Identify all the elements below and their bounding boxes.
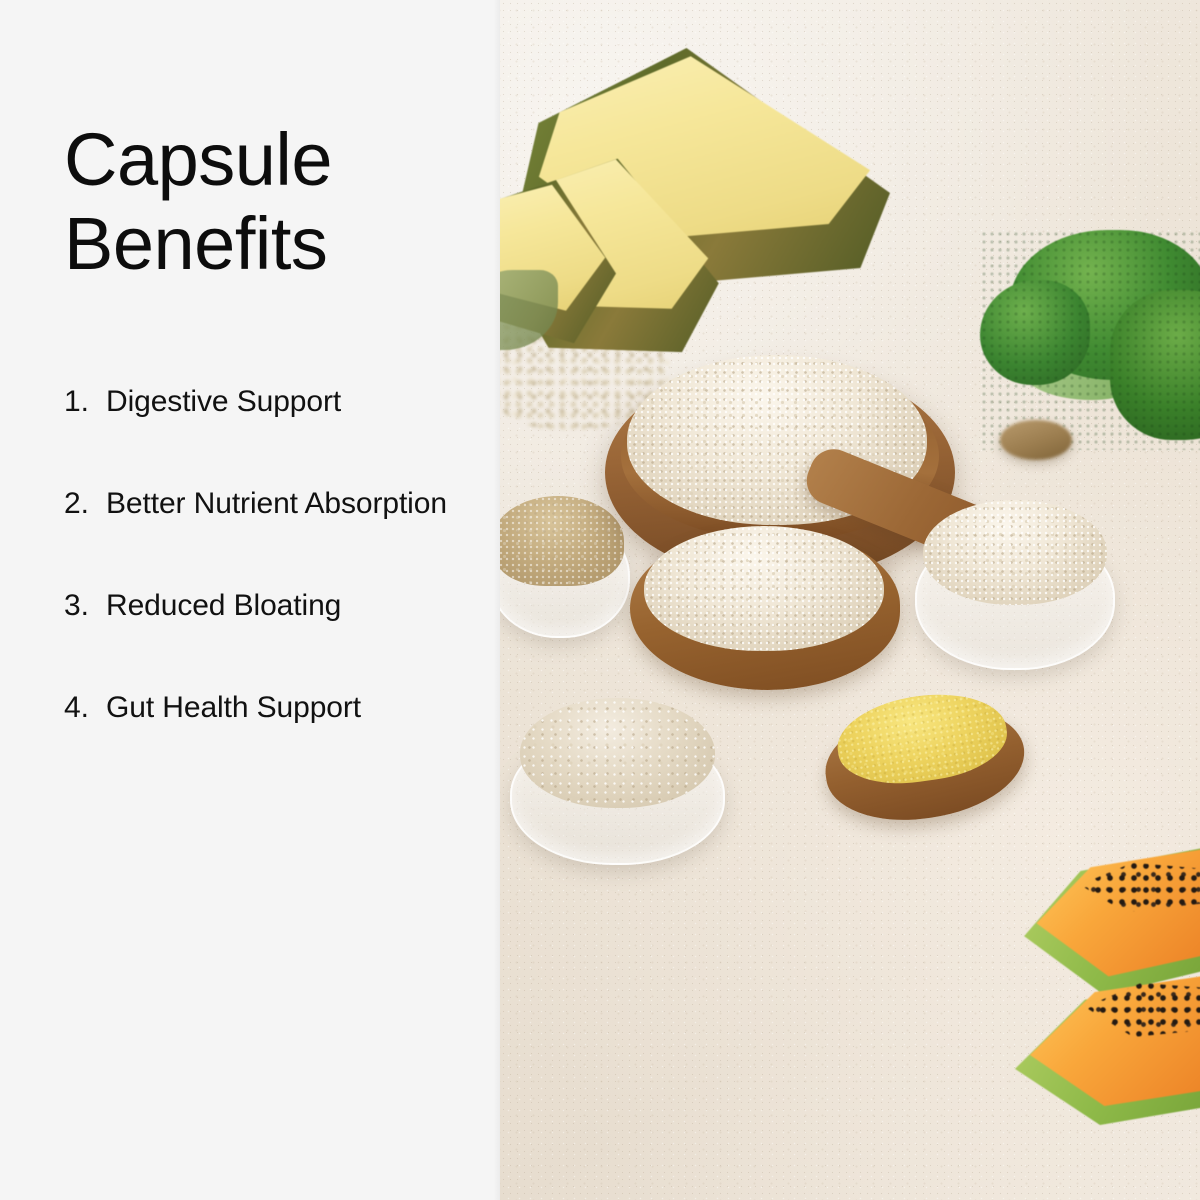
benefit-item-4: 4. Gut Health Support: [64, 686, 464, 730]
benefit-item-2: 2. Better Nutrient Absorption: [64, 482, 464, 526]
pineapple-slices: [500, 30, 920, 350]
benefit-number-3: 3.: [64, 584, 106, 628]
spoon-powder-grain: [644, 526, 884, 651]
broccoli-florets: [980, 230, 1200, 450]
glass-bowl-cream-powder: [915, 495, 1115, 675]
cream-powder-grain: [923, 500, 1107, 605]
benefit-number-2: 2.: [64, 482, 106, 526]
page-title-line-2: Benefits: [64, 202, 464, 286]
benefit-text-4: Gut Health Support: [106, 686, 464, 730]
page-title-line-1: Capsule: [64, 118, 464, 202]
broccoli-texture: [980, 230, 1200, 450]
papaya-slices: [985, 840, 1200, 1140]
ingredients-photo: [500, 0, 1200, 1200]
glass-bowl-coarse-powder: [510, 690, 725, 870]
benefit-number-4: 4.: [64, 686, 106, 730]
benefit-item-1: 1. Digestive Support: [64, 380, 464, 424]
benefit-text-1: Digestive Support: [106, 380, 464, 424]
page-title: Capsule Benefits: [64, 118, 464, 287]
poster-root: Capsule Benefits 1. Digestive Support 2.…: [0, 0, 1200, 1200]
benefits-list: 1. Digestive Support 2. Better Nutrient …: [64, 380, 464, 730]
benefit-text-3: Reduced Bloating: [106, 584, 464, 628]
text-panel: Capsule Benefits 1. Digestive Support 2.…: [0, 0, 500, 1200]
papaya-flesh-upper: [1023, 842, 1200, 982]
benefit-item-3: 3. Reduced Bloating: [64, 584, 464, 628]
benefit-text-2: Better Nutrient Absorption: [106, 482, 464, 526]
coarse-powder-grain: [520, 698, 715, 808]
wooden-dish-yellow-powder: [825, 690, 1025, 820]
benefit-number-1: 1.: [64, 380, 106, 424]
